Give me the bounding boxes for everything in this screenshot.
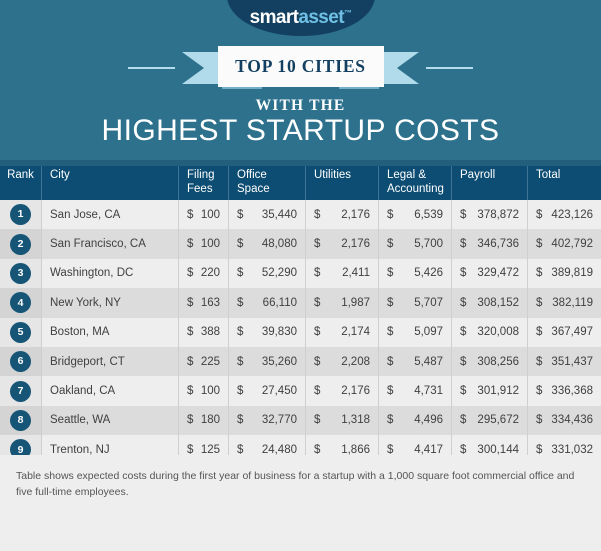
cell-office-space: $35,260 [228,347,305,376]
cell-utilities: $2,411 [305,259,378,288]
cell-city: New York, NY [41,288,178,317]
cell-office-space: $39,830 [228,318,305,347]
cell-legal-accounting: $5,487 [378,347,451,376]
cell-office-space: $48,080 [228,229,305,258]
trademark-icon: ™ [344,9,351,18]
currency-symbol: $ [187,209,193,221]
amount-value: 35,260 [262,356,297,368]
cell-rank: 8 [0,406,41,435]
amount-value: 48,080 [262,238,297,250]
cell-payroll: $301,912 [451,376,527,405]
table-row: 1San Jose, CA$100$35,440$2,176$6,539$378… [0,200,601,229]
amount-value: 334,436 [551,414,593,426]
cell-filing-fees: $220 [178,259,228,288]
cell-payroll: $378,872 [451,200,527,229]
currency-symbol: $ [314,385,320,397]
amount-value: 388 [201,326,220,338]
currency-symbol: $ [187,238,193,250]
amount-value: 220 [201,267,220,279]
cell-office-space: $52,290 [228,259,305,288]
column-header-office-space: Office Space [228,166,305,200]
currency-symbol: $ [187,267,193,279]
amount-value: 1,866 [341,444,370,456]
amount-value: 35,440 [262,209,297,221]
cell-rank: 2 [0,229,41,258]
headline-eyebrow: WITH THE [0,97,601,115]
cell-filing-fees: $100 [178,229,228,258]
cell-legal-accounting: $5,707 [378,288,451,317]
currency-symbol: $ [460,444,466,456]
rank-badge: 1 [10,204,31,225]
cell-filing-fees: $100 [178,200,228,229]
cell-office-space: $27,450 [228,376,305,405]
currency-symbol: $ [387,414,393,426]
amount-value: 308,152 [477,297,519,309]
currency-symbol: $ [387,326,393,338]
logo-wordmark: smartasset™ [227,7,375,29]
currency-symbol: $ [460,267,466,279]
currency-symbol: $ [536,356,542,368]
cell-utilities: $2,176 [305,200,378,229]
cell-filing-fees: $388 [178,318,228,347]
cell-payroll: $295,672 [451,406,527,435]
costs-table: Rank City Filing Fees Office Space Utili… [0,160,601,494]
amount-value: 125 [201,444,220,456]
amount-value: 295,672 [477,414,519,426]
currency-symbol: $ [536,267,542,279]
cell-filing-fees: $100 [178,376,228,405]
cell-total: $382,119 [527,288,601,317]
currency-symbol: $ [460,238,466,250]
amount-value: 180 [201,414,220,426]
amount-value: 329,472 [477,267,519,279]
ribbon-rule-left [128,67,175,69]
column-header-payroll: Payroll [451,166,527,200]
page-title: HIGHEST STARTUP COSTS [0,114,601,148]
ribbon-rule-right [426,67,473,69]
table-row: 8Seattle, WA$180$32,770$1,318$4,496$295,… [0,406,601,435]
amount-value: 2,174 [341,326,370,338]
cell-total: $423,126 [527,200,601,229]
table-header-row: Rank City Filing Fees Office Space Utili… [0,166,601,200]
cell-rank: 4 [0,288,41,317]
amount-value: 100 [201,238,220,250]
amount-value: 5,487 [414,356,443,368]
currency-symbol: $ [237,414,243,426]
amount-value: 100 [201,209,220,221]
ribbon-center-plate: TOP 10 CITIES [218,46,384,87]
cell-city: Oakland, CA [41,376,178,405]
currency-symbol: $ [314,297,320,309]
footnote-panel: Table shows expected costs during the fi… [0,455,601,551]
currency-symbol: $ [314,356,320,368]
cell-city: San Jose, CA [41,200,178,229]
currency-symbol: $ [187,414,193,426]
cell-rank: 6 [0,347,41,376]
currency-symbol: $ [237,326,243,338]
amount-value: 2,176 [341,209,370,221]
amount-value: 2,176 [341,385,370,397]
amount-value: 300,144 [477,444,519,456]
amount-value: 32,770 [262,414,297,426]
amount-value: 24,480 [262,444,297,456]
table-row: 2San Francisco, CA$100$48,080$2,176$5,70… [0,229,601,258]
amount-value: 5,700 [414,238,443,250]
cell-legal-accounting: $5,700 [378,229,451,258]
cell-utilities: $2,176 [305,229,378,258]
cell-filing-fees: $180 [178,406,228,435]
cell-total: $351,437 [527,347,601,376]
currency-symbol: $ [536,444,542,456]
cell-total: $334,436 [527,406,601,435]
amount-value: 52,290 [262,267,297,279]
column-header-rank: Rank [0,166,41,200]
cell-rank: 3 [0,259,41,288]
amount-value: 100 [201,385,220,397]
currency-symbol: $ [187,385,193,397]
currency-symbol: $ [460,414,466,426]
amount-value: 4,731 [414,385,443,397]
currency-symbol: $ [536,414,542,426]
cell-city: Washington, DC [41,259,178,288]
cell-office-space: $35,440 [228,200,305,229]
amount-value: 382,119 [552,297,593,309]
currency-symbol: $ [536,238,542,250]
cell-total: $367,497 [527,318,601,347]
cell-payroll: $329,472 [451,259,527,288]
currency-symbol: $ [460,385,466,397]
currency-symbol: $ [237,356,243,368]
cell-legal-accounting: $4,731 [378,376,451,405]
amount-value: 308,256 [477,356,519,368]
infographic-root: smartasset™ TOP 10 CITIES WITH THE HIGHE… [0,0,601,551]
amount-value: 320,008 [477,326,519,338]
footnote-text: Table shows expected costs during the fi… [16,469,585,501]
cell-rank: 7 [0,376,41,405]
cell-utilities: $1,987 [305,288,378,317]
currency-symbol: $ [460,326,466,338]
currency-symbol: $ [314,238,320,250]
rank-badge: 8 [10,410,31,431]
column-header-legal-accounting: Legal & Accounting [378,166,451,200]
cell-rank: 5 [0,318,41,347]
cell-utilities: $2,208 [305,347,378,376]
currency-symbol: $ [237,385,243,397]
amount-value: 389,819 [551,267,593,279]
currency-symbol: $ [314,326,320,338]
cell-utilities: $2,176 [305,376,378,405]
currency-symbol: $ [460,209,466,221]
cell-legal-accounting: $5,426 [378,259,451,288]
cell-payroll: $320,008 [451,318,527,347]
rank-badge: 2 [10,234,31,255]
currency-symbol: $ [460,356,466,368]
currency-symbol: $ [387,267,393,279]
currency-symbol: $ [536,209,542,221]
cell-utilities: $1,318 [305,406,378,435]
currency-symbol: $ [187,297,193,309]
cell-total: $389,819 [527,259,601,288]
currency-symbol: $ [387,385,393,397]
currency-symbol: $ [460,297,466,309]
amount-value: 331,032 [551,444,593,456]
amount-value: 6,539 [414,209,443,221]
amount-value: 225 [201,356,220,368]
currency-symbol: $ [536,297,542,309]
smartasset-logo: smartasset™ [227,0,375,36]
currency-symbol: $ [237,209,243,221]
column-header-utilities: Utilities [305,166,378,200]
amount-value: 346,736 [477,238,519,250]
amount-value: 402,792 [551,238,593,250]
amount-value: 66,110 [263,297,297,309]
amount-value: 301,912 [477,385,519,397]
currency-symbol: $ [314,444,320,456]
currency-symbol: $ [387,356,393,368]
amount-value: 5,426 [414,267,443,279]
rank-badge: 6 [10,351,31,372]
table-row: 7Oakland, CA$100$27,450$2,176$4,731$301,… [0,376,601,405]
cell-office-space: $32,770 [228,406,305,435]
amount-value: 351,437 [551,356,593,368]
amount-value: 2,176 [341,238,370,250]
currency-symbol: $ [536,385,542,397]
amount-value: 2,411 [342,267,370,279]
currency-symbol: $ [314,267,320,279]
table-row: 3Washington, DC$220$52,290$2,411$5,426$3… [0,259,601,288]
currency-symbol: $ [187,444,193,456]
cell-payroll: $308,256 [451,347,527,376]
currency-symbol: $ [187,356,193,368]
column-header-filing-fees: Filing Fees [178,166,228,200]
currency-symbol: $ [387,238,393,250]
table-row: 4New York, NY$163$66,110$1,987$5,707$308… [0,288,601,317]
logo-smart-text: smart [250,7,299,28]
ribbon-banner: TOP 10 CITIES [0,46,601,90]
currency-symbol: $ [387,444,393,456]
amount-value: 423,126 [551,209,593,221]
currency-symbol: $ [314,414,320,426]
currency-symbol: $ [387,297,393,309]
cell-legal-accounting: $6,539 [378,200,451,229]
amount-value: 5,097 [414,326,443,338]
cell-legal-accounting: $5,097 [378,318,451,347]
cell-payroll: $308,152 [451,288,527,317]
cell-filing-fees: $163 [178,288,228,317]
amount-value: 39,830 [262,326,297,338]
cell-city: San Francisco, CA [41,229,178,258]
currency-symbol: $ [237,297,243,309]
rank-badge: 5 [10,322,31,343]
table-row: 5Boston, MA$388$39,830$2,174$5,097$320,0… [0,318,601,347]
amount-value: 336,368 [551,385,593,397]
cell-office-space: $66,110 [228,288,305,317]
rank-badge: 3 [10,263,31,284]
amount-value: 27,450 [262,385,297,397]
column-header-city: City [41,166,178,200]
column-header-total: Total [527,166,601,200]
cell-utilities: $2,174 [305,318,378,347]
amount-value: 163 [201,297,220,309]
rank-badge: 7 [10,381,31,402]
currency-symbol: $ [187,326,193,338]
amount-value: 378,872 [477,209,519,221]
cell-city: Seattle, WA [41,406,178,435]
amount-value: 4,417 [414,444,443,456]
cell-legal-accounting: $4,496 [378,406,451,435]
cell-city: Bridgeport, CT [41,347,178,376]
currency-symbol: $ [237,238,243,250]
ribbon-label: TOP 10 CITIES [235,56,366,77]
rank-badge: 4 [10,292,31,313]
currency-symbol: $ [536,326,542,338]
currency-symbol: $ [314,209,320,221]
amount-value: 1,318 [341,414,370,426]
cell-rank: 1 [0,200,41,229]
amount-value: 5,707 [414,297,443,309]
amount-value: 367,497 [551,326,593,338]
table-body: 1San Jose, CA$100$35,440$2,176$6,539$378… [0,200,601,494]
cell-city: Boston, MA [41,318,178,347]
logo-asset-text: asset [298,7,344,28]
table-row: 6Bridgeport, CT$225$35,260$2,208$5,487$3… [0,347,601,376]
currency-symbol: $ [237,444,243,456]
currency-symbol: $ [387,209,393,221]
cell-payroll: $346,736 [451,229,527,258]
amount-value: 1,987 [341,297,370,309]
currency-symbol: $ [237,267,243,279]
cell-filing-fees: $225 [178,347,228,376]
cell-total: $336,368 [527,376,601,405]
amount-value: 2,208 [341,356,370,368]
cell-total: $402,792 [527,229,601,258]
amount-value: 4,496 [414,414,443,426]
